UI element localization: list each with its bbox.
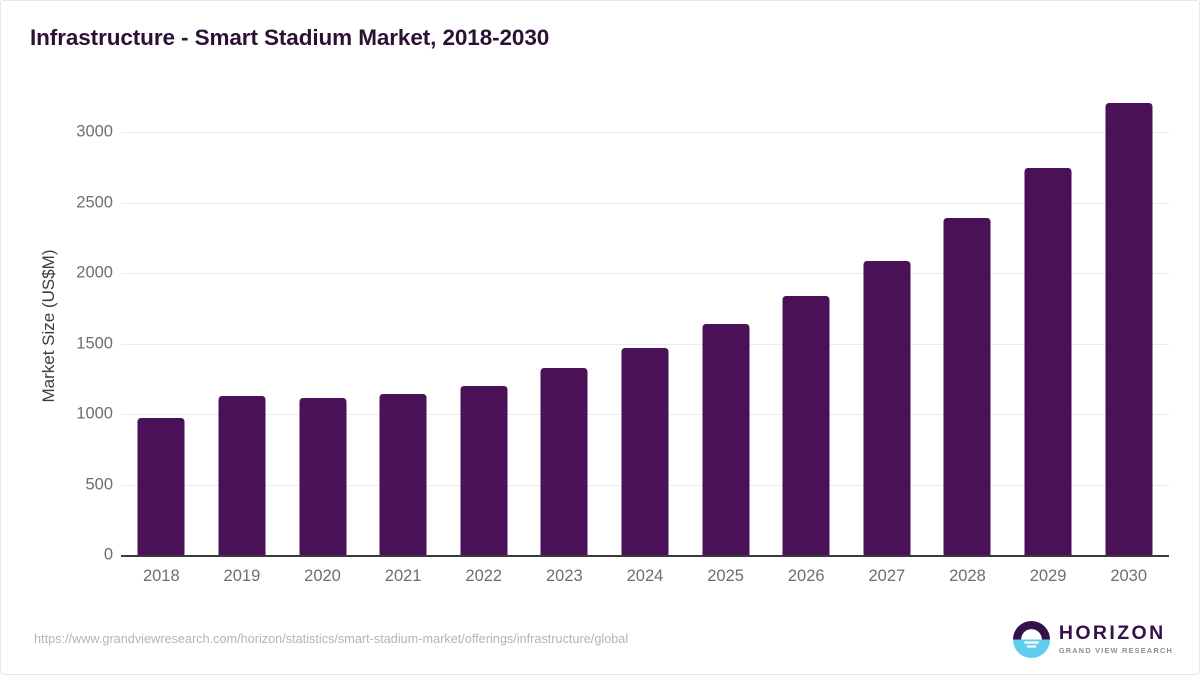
y-axis-tick-labels: 050010001500200025003000 [1, 1, 113, 675]
bar-group[interactable] [363, 96, 444, 555]
y-axis-tick-label: 500 [3, 475, 113, 494]
y-axis-tick-label: 3000 [3, 123, 113, 142]
bar-series [121, 97, 1169, 556]
bar[interactable] [460, 386, 507, 555]
x-axis-tick-label: 2018 [121, 567, 202, 586]
bar[interactable] [218, 396, 265, 555]
y-axis-tick-label: 2000 [3, 264, 113, 283]
plot-area [121, 97, 1169, 556]
logo-text: HORIZON GRAND VIEW RESEARCH [1059, 623, 1173, 654]
x-axis-tick-label: 2020 [282, 567, 363, 586]
x-axis-tick-label: 2019 [202, 567, 283, 586]
bar[interactable] [702, 324, 749, 555]
bar-group[interactable] [524, 96, 605, 555]
x-axis-tick-label: 2025 [685, 567, 766, 586]
bar[interactable] [863, 261, 910, 555]
logo-wordmark: HORIZON [1059, 624, 1173, 644]
bar-group[interactable] [121, 96, 202, 555]
x-axis-tick-label: 2022 [443, 567, 524, 586]
x-axis-tick-label: 2030 [1088, 567, 1169, 586]
bar-group[interactable] [766, 96, 847, 555]
bar[interactable] [1105, 103, 1152, 555]
chart-page: Infrastructure - Smart Stadium Market, 2… [0, 0, 1200, 675]
bar-group[interactable] [282, 96, 363, 555]
bar-group[interactable] [1008, 96, 1089, 555]
x-axis-tick-labels: 2018201920202021202220232024202520262027… [121, 567, 1169, 597]
x-axis-tick-label: 2021 [363, 567, 444, 586]
bar[interactable] [380, 394, 427, 555]
bar-group[interactable] [847, 96, 928, 555]
y-axis-tick-label: 2500 [3, 193, 113, 212]
bar-group[interactable] [443, 96, 524, 555]
bar[interactable] [1025, 168, 1072, 555]
x-axis-tick-label: 2027 [847, 567, 928, 586]
y-axis-tick-label: 0 [3, 546, 113, 565]
source-url[interactable]: https://www.grandviewresearch.com/horizo… [34, 632, 628, 646]
x-axis-tick-label: 2029 [1008, 567, 1089, 586]
bar-group[interactable] [605, 96, 686, 555]
bar[interactable] [621, 348, 668, 555]
x-axis-tick-label: 2023 [524, 567, 605, 586]
x-axis-tick-label: 2028 [927, 567, 1008, 586]
bar-group[interactable] [202, 96, 283, 555]
horizon-sunrise-icon [1013, 621, 1050, 658]
bar[interactable] [944, 218, 991, 555]
bar[interactable] [541, 368, 588, 555]
bar-group[interactable] [927, 96, 1008, 555]
bar-group[interactable] [1088, 96, 1169, 555]
x-axis-tick-label: 2026 [766, 567, 847, 586]
x-axis-line [121, 555, 1169, 557]
bar[interactable] [138, 418, 185, 555]
bar[interactable] [299, 398, 346, 555]
y-axis-tick-label: 1000 [3, 405, 113, 424]
bar[interactable] [783, 296, 830, 555]
bar-group[interactable] [685, 96, 766, 555]
logo-tagline: GRAND VIEW RESEARCH [1059, 647, 1173, 654]
y-axis-tick-label: 1500 [3, 334, 113, 353]
horizon-logo[interactable]: HORIZON GRAND VIEW RESEARCH [1013, 619, 1173, 659]
x-axis-tick-label: 2024 [605, 567, 686, 586]
